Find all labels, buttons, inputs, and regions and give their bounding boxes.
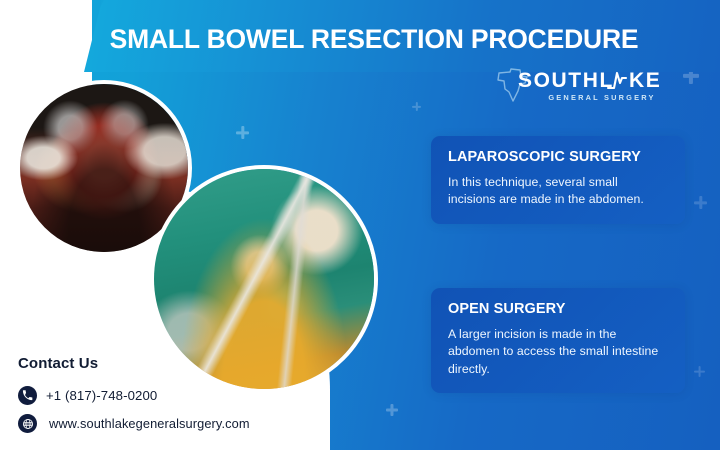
info-card-laparoscopic: LAPAROSCOPIC SURGERY In this technique, … (431, 136, 685, 224)
plus-decor-icon (694, 366, 705, 377)
card-body: In this technique, several small incisio… (448, 174, 668, 209)
card-title: OPEN SURGERY (448, 302, 668, 318)
plus-decor-icon (412, 102, 421, 111)
plus-decor-icon (236, 126, 249, 139)
laparoscopic-surgery-photo (150, 165, 378, 393)
phone-icon (18, 386, 37, 405)
contact-website-row[interactable]: www.southlakegeneralsurgery.com (18, 414, 250, 433)
logo-word-second: KE (629, 69, 661, 92)
logo-wordmark: SOUTHLKE (518, 69, 664, 93)
contact-heading: Contact Us (18, 355, 98, 372)
page-title: SMALL BOWEL RESECTION PROCEDURE (94, 26, 654, 53)
logo-tagline: GENERAL SURGERY (540, 93, 664, 102)
globe-icon (18, 414, 37, 433)
brand-logo: SOUTHLKE GENERAL SURGERY (496, 63, 664, 111)
logo-word-first: SOUTHL (518, 69, 614, 92)
heartbeat-pulse-icon (606, 69, 628, 93)
contact-phone-row[interactable]: +1 (817)-748-0200 (18, 386, 157, 405)
poster-canvas: SMALL BOWEL RESECTION PROCEDURE SOUTHLKE… (0, 0, 720, 450)
card-body: A larger incision is made in the abdomen… (448, 326, 668, 378)
contact-phone-number: +1 (817)-748-0200 (46, 388, 157, 403)
plus-decor-icon (694, 196, 707, 209)
card-title: LAPAROSCOPIC SURGERY (448, 150, 668, 166)
contact-website-url: www.southlakegeneralsurgery.com (49, 416, 250, 431)
laparoscopic-surgery-image (154, 169, 374, 389)
info-card-open-surgery: OPEN SURGERY A larger incision is made i… (431, 288, 685, 393)
plus-decor-icon (386, 404, 398, 416)
